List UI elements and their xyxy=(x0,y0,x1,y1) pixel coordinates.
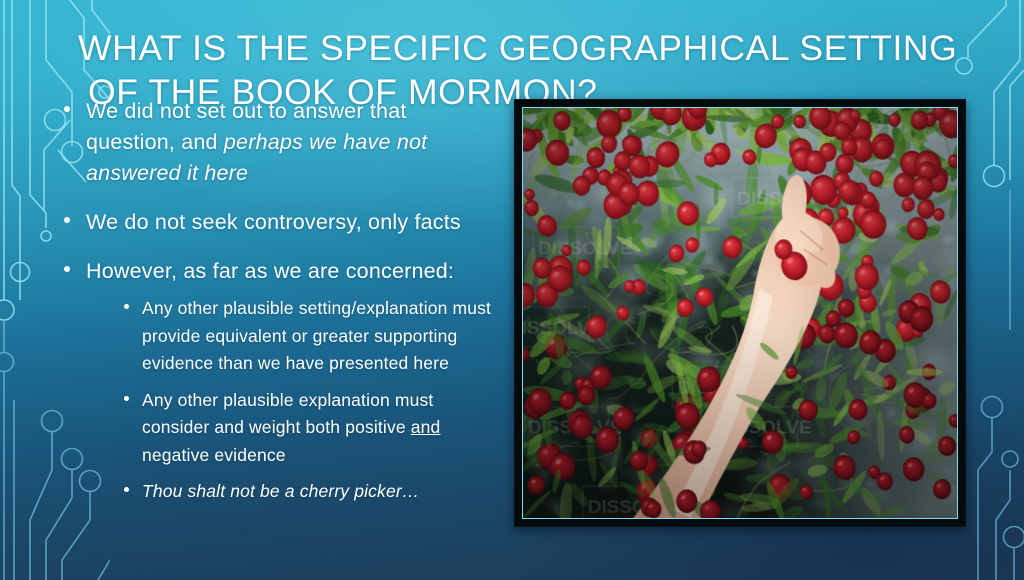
bullet-text-3: However, as far as we are concerned: xyxy=(86,259,454,283)
bullet-dot-icon xyxy=(124,396,129,401)
sub-bullet-item-3: Thou shalt not be a cherry picker… xyxy=(120,478,498,506)
bullet-dot-icon xyxy=(124,487,129,492)
bullet-item-3: However, as far as we are concerned: Any… xyxy=(58,256,498,506)
bullet-dot-icon xyxy=(124,304,129,309)
sub-bullet-item-1: Any other plausible setting/explanation … xyxy=(120,295,498,378)
sub-bullet-text-1: Any other plausible setting/explanation … xyxy=(142,298,491,373)
sub-bullet-text-2-part-1: Any other plausible explanation must con… xyxy=(142,390,433,438)
sub-bullet-list: Any other plausible setting/explanation … xyxy=(86,295,498,506)
bullet-dot-icon xyxy=(64,266,70,272)
bullet-item-1: We did not set out to answer that questi… xyxy=(58,96,498,189)
bullet-dot-icon xyxy=(64,217,70,223)
presentation-slide: What is the specific geographical settin… xyxy=(0,0,1024,580)
bullet-dot-icon xyxy=(64,106,70,112)
slide-body-bullet-list: We did not set out to answer that questi… xyxy=(58,96,498,524)
sub-bullet-text-2-part-2: and xyxy=(411,417,441,437)
slide-title-line-1: What is the specific geographical settin… xyxy=(78,28,957,68)
sub-bullet-item-2: Any other plausible explanation must con… xyxy=(120,387,498,470)
bullet-item-2: We do not seek controversy, only facts xyxy=(58,207,498,238)
slide-image-inner-border xyxy=(522,107,958,519)
slide-image-frame xyxy=(514,99,966,527)
cherry-picking-photo xyxy=(523,108,957,518)
bullet-text-2: We do not seek controversy, only facts xyxy=(86,210,461,234)
sub-bullet-text-2-part-3: negative evidence xyxy=(142,445,286,465)
sub-bullet-text-3: Thou shalt not be a cherry picker… xyxy=(142,481,419,501)
